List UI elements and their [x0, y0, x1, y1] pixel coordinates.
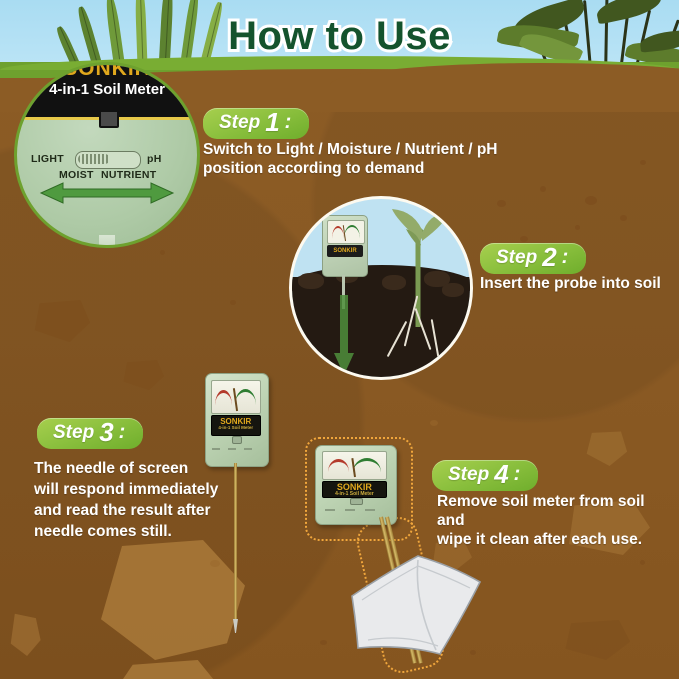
- step-4-meter-device: SONKIR 4-in-1 Soil Meter: [315, 445, 395, 523]
- soil-speck: [640, 160, 646, 165]
- meter-brand-band: SONKIR 4-in-1 Soil Meter: [322, 481, 386, 499]
- meter-model-text: 4-in-1 Soil Meter: [212, 426, 260, 431]
- device-probe-stub: [99, 235, 115, 248]
- meter-arc-red: [215, 390, 231, 408]
- soil-speck: [585, 196, 597, 205]
- step-1-colon: :: [285, 111, 292, 134]
- soil-speck: [160, 250, 165, 255]
- soil-speck: [575, 225, 580, 230]
- step-1-badge: Step 1 :: [203, 108, 309, 139]
- meter-arc-red: [328, 459, 349, 475]
- step-4-description: Remove soil meter from soil and wipe it …: [437, 492, 667, 549]
- soil-rock: [120, 360, 164, 390]
- device-closeup-circle: SONKIR 4-in-1 Soil Meter LIGHT pH MOIST …: [14, 62, 200, 248]
- meter-probe-rod: [234, 463, 237, 621]
- step-4-line-1: Remove soil meter from soil and: [437, 492, 667, 530]
- step-1-line-2: position according to demand: [203, 159, 623, 178]
- step-4-number: 4: [494, 465, 508, 484]
- soil-rock: [8, 612, 42, 656]
- page-title-text: How to Use: [228, 14, 451, 58]
- step-2-badge: Step 2 :: [480, 243, 586, 274]
- probe-insert-photo-circle: SONKIR: [289, 196, 473, 380]
- step-2-line-1: Insert the probe into soil: [480, 274, 679, 293]
- photo-meter-brand: SONKIR: [327, 245, 363, 257]
- step-3-colon: :: [119, 421, 126, 444]
- step-3-description: The needle of screen will respond immedi…: [34, 458, 224, 542]
- mode-switch-track[interactable]: [75, 151, 141, 169]
- meter-brand-band: SONKIR 4-in-1 Soil Meter: [211, 415, 261, 435]
- step-2-colon: :: [562, 246, 569, 269]
- soil-rock: [584, 430, 628, 466]
- meter-arc-green: [235, 389, 256, 408]
- soil-rock: [560, 620, 630, 660]
- step-1-number: 1: [265, 113, 279, 132]
- device-button: [99, 110, 119, 128]
- step-2-number: 2: [542, 248, 556, 267]
- seedling-plant: [390, 207, 450, 327]
- step-3-line-1: The needle of screen: [34, 458, 224, 479]
- soil-speck: [640, 560, 645, 565]
- meter-screen: [322, 451, 386, 480]
- soil-speck: [230, 300, 236, 305]
- soil-speck: [540, 186, 546, 192]
- step-3-number: 3: [99, 423, 113, 442]
- infographic-canvas: How to Use SONKIR 4-in-1 Soil Meter LIGH…: [0, 0, 679, 679]
- step-4-line-2: wipe it clean after each use.: [437, 530, 667, 549]
- meter-mode-switch[interactable]: [350, 498, 362, 505]
- step-4-colon: :: [514, 463, 521, 486]
- soil-rock: [118, 660, 223, 679]
- meter-mode-switch[interactable]: [232, 436, 242, 444]
- step-4-badge: Step 4 :: [432, 460, 538, 491]
- device-model-text: 4-in-1 Soil Meter: [14, 81, 200, 98]
- soil-speck: [430, 420, 438, 426]
- step-3-word: Step: [53, 422, 94, 444]
- step-3-line-4: needle comes still.: [34, 521, 224, 542]
- meter-scale-marks: [212, 445, 257, 454]
- soil-speck: [620, 215, 627, 221]
- soil-speck: [210, 560, 220, 567]
- device-brand-text: SONKIR: [14, 62, 200, 81]
- step-1-line-1: Switch to Light / Moisture / Nutrient / …: [203, 140, 623, 159]
- switch-label-moist: MOIST: [59, 169, 94, 181]
- switch-label-nutrient: NUTRIENT: [101, 169, 156, 181]
- step-3-line-3: and read the result after: [34, 500, 224, 521]
- switch-label-light: LIGHT: [31, 153, 64, 165]
- meter-scale-marks: [325, 506, 383, 514]
- insert-direction-arrow: [334, 295, 354, 375]
- step-2-word: Step: [496, 247, 537, 269]
- switch-label-ph: pH: [147, 153, 162, 165]
- meter-model-text: 4-in-1 Soil Meter: [323, 492, 385, 497]
- step-2-description: Insert the probe into soil: [480, 274, 679, 293]
- soil-clod: [298, 273, 324, 289]
- soil-rock: [95, 540, 245, 660]
- step-3-badge: Step 3 :: [37, 418, 143, 449]
- soil-speck: [497, 200, 506, 207]
- mode-switch-knob[interactable]: [78, 154, 110, 164]
- page-title: How to Use: [0, 14, 679, 59]
- soil-rock: [30, 300, 90, 342]
- step-3-line-2: will respond immediately: [34, 479, 224, 500]
- step-4-word: Step: [448, 464, 489, 486]
- step-3-meter-device: SONKIR 4-in-1 Soil Meter: [205, 373, 267, 465]
- photo-meter-gauge: [327, 220, 365, 244]
- step-1-word: Step: [219, 112, 260, 134]
- step-1-description: Switch to Light / Moisture / Nutrient / …: [203, 140, 623, 178]
- photo-meter-device: SONKIR: [322, 215, 368, 277]
- soil-speck: [320, 640, 327, 645]
- soil-speck: [520, 236, 528, 242]
- photo-meter-brand-band: SONKIR: [327, 245, 363, 257]
- meter-arc-green: [353, 458, 380, 475]
- switch-direction-arrows: [41, 183, 173, 203]
- cleaning-cloth: [344, 552, 484, 662]
- meter-screen: [211, 380, 261, 413]
